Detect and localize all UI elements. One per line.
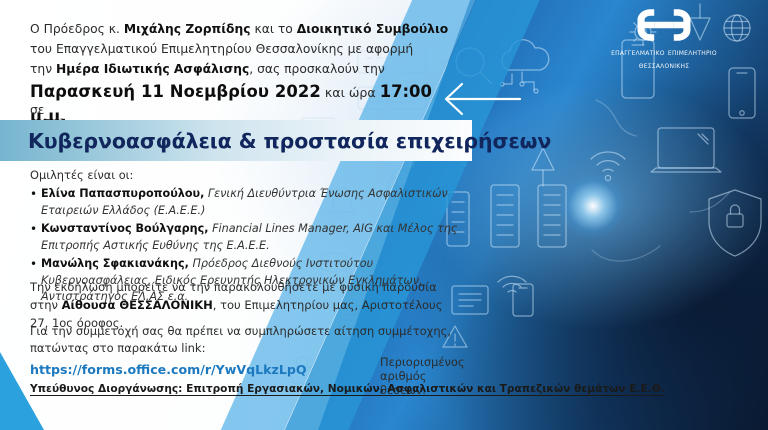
list-item: • Κωνσταντίνος Βούλγαρης, Financial Line… <box>30 221 468 254</box>
event-title: Κυβερνοασφάλεια & προστασία επιχειρήσεων <box>28 129 551 153</box>
smartphone-icon <box>729 68 755 118</box>
board-label: Διοικητικό Συμβούλιο <box>297 22 448 36</box>
venue-line2-pre: στην <box>30 298 62 312</box>
speakers-lead: Ομιλητές είναι οι: <box>30 168 468 182</box>
organizer-note: Υπεύθυνος Διοργάνωσης: Επιτροπή Εργασιακ… <box>30 383 665 395</box>
venue-room: Αίθουσα ΘΕΣΣΑΛΟΝΙΚΗ <box>62 298 213 312</box>
intro-line3-post: , σας προσκαλούν την <box>249 62 384 76</box>
intro-line3-pre: την <box>30 62 56 76</box>
smartphone-icon-2 <box>513 284 533 316</box>
president-name: Μιχάλης Ζορπίδης <box>124 22 251 36</box>
laptop-icon <box>651 128 721 172</box>
speaker-name: Ελίνα Παπασπυροπούλου, <box>41 187 204 200</box>
intro-line2: του Επαγγελματικού Επιμελητηρίου Θεσσαλο… <box>30 42 413 56</box>
speaker-name: Κωνσταντίνος Βούλγαρης, <box>41 222 209 235</box>
speaker-name: Μανώλης Σφακιανάκης, <box>41 257 189 270</box>
event-connector: και ώρα <box>321 85 380 100</box>
event-date: Παρασκευή 11 Νοεμβρίου 2022 <box>30 82 321 101</box>
registration-form-link[interactable]: https://forms.office.com/r/YwVqLkzLpQ <box>30 361 307 380</box>
touch-glow <box>561 174 625 238</box>
bullet-icon: • <box>30 186 41 203</box>
shield-lock-icon <box>709 190 761 256</box>
intro-part2: και το <box>251 22 297 36</box>
poster-canvas: Επαγγελματικό Επιμελητήριο Θεσσαλονικησ … <box>0 0 768 430</box>
bullet-icon: • <box>30 256 41 273</box>
intro-paragraph: Ο Πρόεδρος κ. Μιχάλης Ζορπίδης και το Δι… <box>30 20 450 80</box>
logo-organization-name: Επαγγελματικό Επιμελητήριο Θεσσαλονικησ <box>566 47 762 72</box>
organization-logo: Επαγγελματικό Επιμελητήριο Θεσσαλονικησ <box>566 8 762 72</box>
bullet-icon: • <box>30 221 41 238</box>
eeth-monogram-icon <box>636 8 692 42</box>
occasion-name: Ημέρα Ιδιωτικής Ασφάλισης <box>56 62 249 76</box>
venue-line1: Την εκδήλωση μπορείτε να την παρακολουθή… <box>30 280 437 294</box>
event-title-banner: Κυβερνοασφάλεια & προστασία επιχειρήσεων <box>0 120 472 161</box>
list-item: • Ελίνα Παπασπυροπούλου, Γενική Διευθύντ… <box>30 186 468 219</box>
intro-part1: Ο Πρόεδρος κ. <box>30 22 124 36</box>
registration-instructions: Για την συμμετοχή σας θα πρέπει να συμπλ… <box>30 324 451 355</box>
arrow-up-icon <box>532 148 554 186</box>
server-icon <box>491 185 519 247</box>
